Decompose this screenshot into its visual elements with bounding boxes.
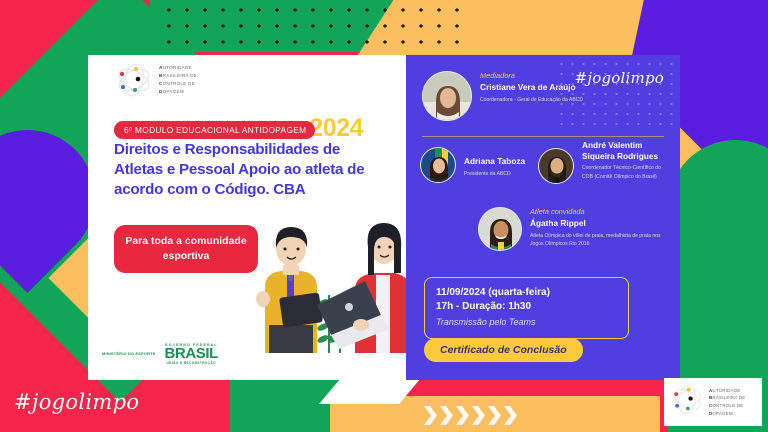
speaker-info: Mediadora Cristiane Vera de Araújo Coord… [480,71,583,104]
abcd-line-rest: RASILEIRA DE [712,395,745,400]
abcd-molecule-icon [670,384,704,420]
chevron-arrows [424,406,517,425]
brasil-wordmark: BRASIL [165,347,218,361]
chevron-right-icon [504,406,517,425]
avatar [478,207,522,251]
card-left-column: AUTORIDADE BRASILEIRA DE CONTROLE DE DOP… [88,55,406,380]
abcd-logo-corner: AUTORIDADE BRASILEIRA DE CONTROLE DE DOP… [664,378,762,426]
poster-canvas: #jogolimpo [0,0,768,432]
illustration-man [256,227,323,353]
avatar [422,71,472,121]
speaker-name: Adriana Taboza [464,156,525,167]
speaker-name: André Valentim Siqueira Rodrigues [582,140,670,161]
speaker-name: Ágatha Rippel [530,218,668,229]
chevron-right-icon [440,406,453,425]
module-pill: 6º MODULO EDUCACIONAL ANTIDOPAGEM [114,121,315,139]
avatar [420,147,456,183]
bg-dot-pattern [160,2,470,54]
speaker-description: Atleta Olímpica do vôlei de praia, medal… [530,232,668,250]
hashtag-jogolimpo-bottom-left: #jogolimpo [14,390,139,414]
year-label: 2024 [309,118,363,139]
speaker-info: Atleta convidada Ágatha Rippel Atleta Ol… [530,207,668,249]
speaker-card-andre: André Valentim Siqueira Rodrigues Coorde… [538,140,670,184]
abcd-line-rest: OPAGEM [712,411,732,416]
chevron-right-icon [424,406,437,425]
speaker-description: Coordenador Técnico-Científico do COB (C… [582,164,670,182]
brasil-logo: GOVERNO FEDERAL BRASIL UNIÃO E RECONSTRU… [165,343,218,365]
speaker-name: Cristiane Vera de Araújo [480,82,583,93]
event-broadcast: Transmissão pelo Teams [436,316,617,329]
people-illustration [243,203,413,353]
module-tag-row: 6º MODULO EDUCACIONAL ANTIDOPAGEM 2024 [114,118,363,139]
abcd-corner-wordmark: AUTORIDADE BRASILEIRA DE CONTROLE DE DOP… [709,387,745,418]
abcd-logo-header: AUTORIDADE BRASILEIRA DE CONTROLE DE DOP… [115,63,197,97]
event-time: 17h - Duração: 1h30 [436,300,617,314]
chevron-right-icon [488,406,501,425]
abcd-line-rest: ONTROLE DE [163,81,195,86]
government-logos: MINISTÉRIO DO ESPORTE GOVERNO FEDERAL BR… [102,343,218,365]
event-datetime-box: 11/09/2024 (quarta-feira) 17h - Duração:… [424,277,629,339]
abcd-line-rest: RASILEIRA DE [163,73,197,78]
abcd-molecule-icon [115,63,153,97]
speakers-panel: #jogolimpo Mediadora Cristiane Vera de A… [406,55,680,380]
speaker-description: Presidente da ABCD [464,170,525,179]
audience-callout: Para toda a comunidade esportiva [114,225,258,273]
panel-divider [422,136,664,137]
ministry-label: MINISTÉRIO DO ESPORTE [102,351,156,357]
abcd-line-rest: ONTROLE DE [712,403,743,408]
event-date: 11/09/2024 (quarta-feira) [436,286,617,300]
speaker-info: Adriana Taboza Presidente da ABCD [464,147,525,178]
speaker-role: Atleta convidada [530,207,668,216]
speaker-card-mediator: Mediadora Cristiane Vera de Araújo Coord… [422,71,664,121]
chevron-right-icon [456,406,469,425]
avatar [538,148,574,184]
page-title: Direitos e Responsabilidades de Atletas … [114,140,389,200]
abcd-line-rest: UTORIDADE [163,65,192,70]
speaker-role: Mediadora [480,71,583,80]
speaker-card-adriana: Adriana Taboza Presidente da ABCD [420,147,535,183]
speaker-info: André Valentim Siqueira Rodrigues Coorde… [582,140,670,182]
abcd-logo-wordmark: AUTORIDADE BRASILEIRA DE CONTROLE DE DOP… [159,64,197,96]
poster-card: AUTORIDADE BRASILEIRA DE CONTROLE DE DOP… [88,55,680,380]
certificate-badge: Certificado de Conclusão [424,338,583,362]
chevron-right-icon [472,406,485,425]
abcd-line-rest: OPAGEM [163,89,184,94]
speaker-card-athlete: Atleta convidada Ágatha Rippel Atleta Ol… [478,207,668,251]
illustration-woman [317,223,411,353]
brasil-slogan: UNIÃO E RECONSTRUÇÃO [165,361,218,365]
abcd-line-rest: UTORIDADE [712,388,740,393]
speaker-description: Coordenadora - Geral de Educação da ABCD [480,96,583,105]
